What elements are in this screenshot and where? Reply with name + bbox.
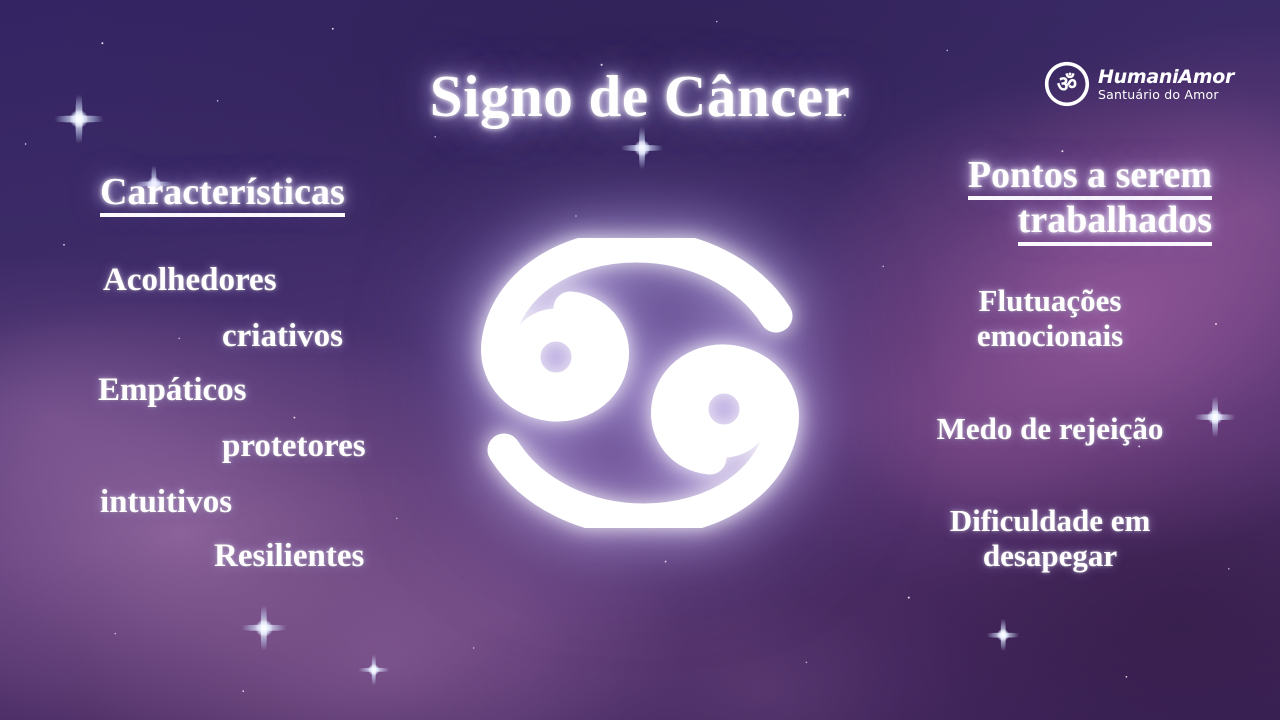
issue-line1: Dificuldade em xyxy=(855,504,1245,539)
right-column-heading: Pontos a serem trabalhados xyxy=(968,155,1212,246)
trait-item: Resilientes xyxy=(214,538,364,575)
right-column-heading-line2: trabalhados xyxy=(1018,200,1212,245)
zodiac-slide: Signo de Câncer ॐ HumaniAmor Santuário d… xyxy=(0,0,1280,720)
issue-line1: Medo de rejeição xyxy=(855,412,1245,447)
trait-item: Acolhedores xyxy=(103,262,277,299)
brand-tagline: Santuário do Amor xyxy=(1098,89,1234,102)
trait-item: protetores xyxy=(222,428,366,465)
trait-item: criativos xyxy=(222,318,343,355)
right-column-heading-line1: Pontos a serem xyxy=(968,155,1212,200)
trait-item: Empáticos xyxy=(98,372,247,409)
issue-line2: desapegar xyxy=(855,539,1245,574)
svg-text:ॐ: ॐ xyxy=(1057,73,1077,98)
om-symbol-icon: ॐ xyxy=(1043,60,1091,108)
issue-item: Flutuações emocionais xyxy=(855,284,1245,353)
left-column-heading-text: Características xyxy=(100,172,345,217)
brand-logo[interactable]: ॐ HumaniAmor Santuário do Amor xyxy=(1043,60,1234,108)
cancer-zodiac-glyph xyxy=(480,238,800,528)
issue-item: Dificuldade em desapegar xyxy=(855,504,1245,573)
issue-line2: emocionais xyxy=(855,319,1245,354)
brand-name: HumaniAmor xyxy=(1098,68,1234,87)
issue-line1: Flutuações xyxy=(855,284,1245,319)
trait-item: intuitivos xyxy=(100,484,232,521)
left-column-heading: Características xyxy=(100,172,345,217)
issue-item: Medo de rejeição xyxy=(855,412,1245,447)
brand-text: HumaniAmor Santuário do Amor xyxy=(1098,66,1234,102)
